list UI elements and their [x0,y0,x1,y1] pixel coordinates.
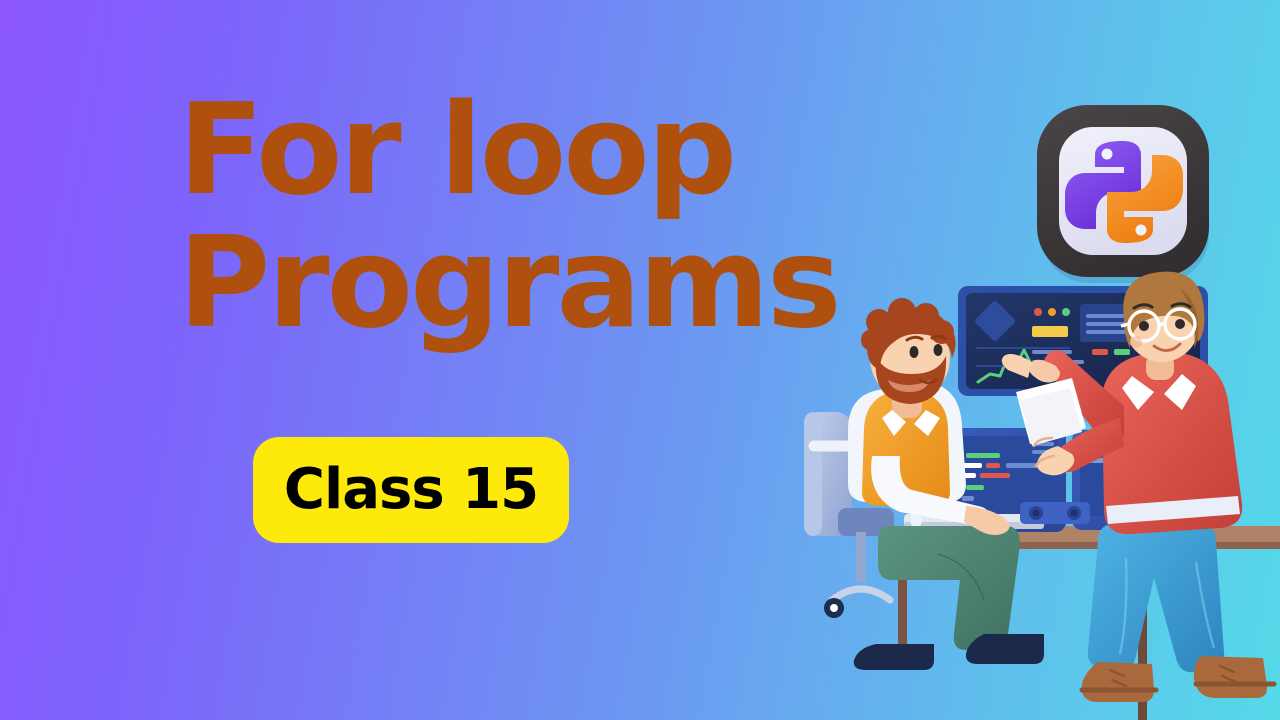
class-badge-label: Class 15 [284,462,538,518]
speaker [1020,502,1090,524]
class-badge: Class 15 [253,437,569,543]
python-logo-icon [1029,97,1219,287]
title-line-2: Programs [178,221,818,344]
slide-canvas: For loop Programs Class 15 [0,0,1280,720]
page-title: For loop Programs [178,88,818,345]
two-developers-at-desk-illustration [780,270,1280,720]
title-line-1: For loop [178,88,818,211]
